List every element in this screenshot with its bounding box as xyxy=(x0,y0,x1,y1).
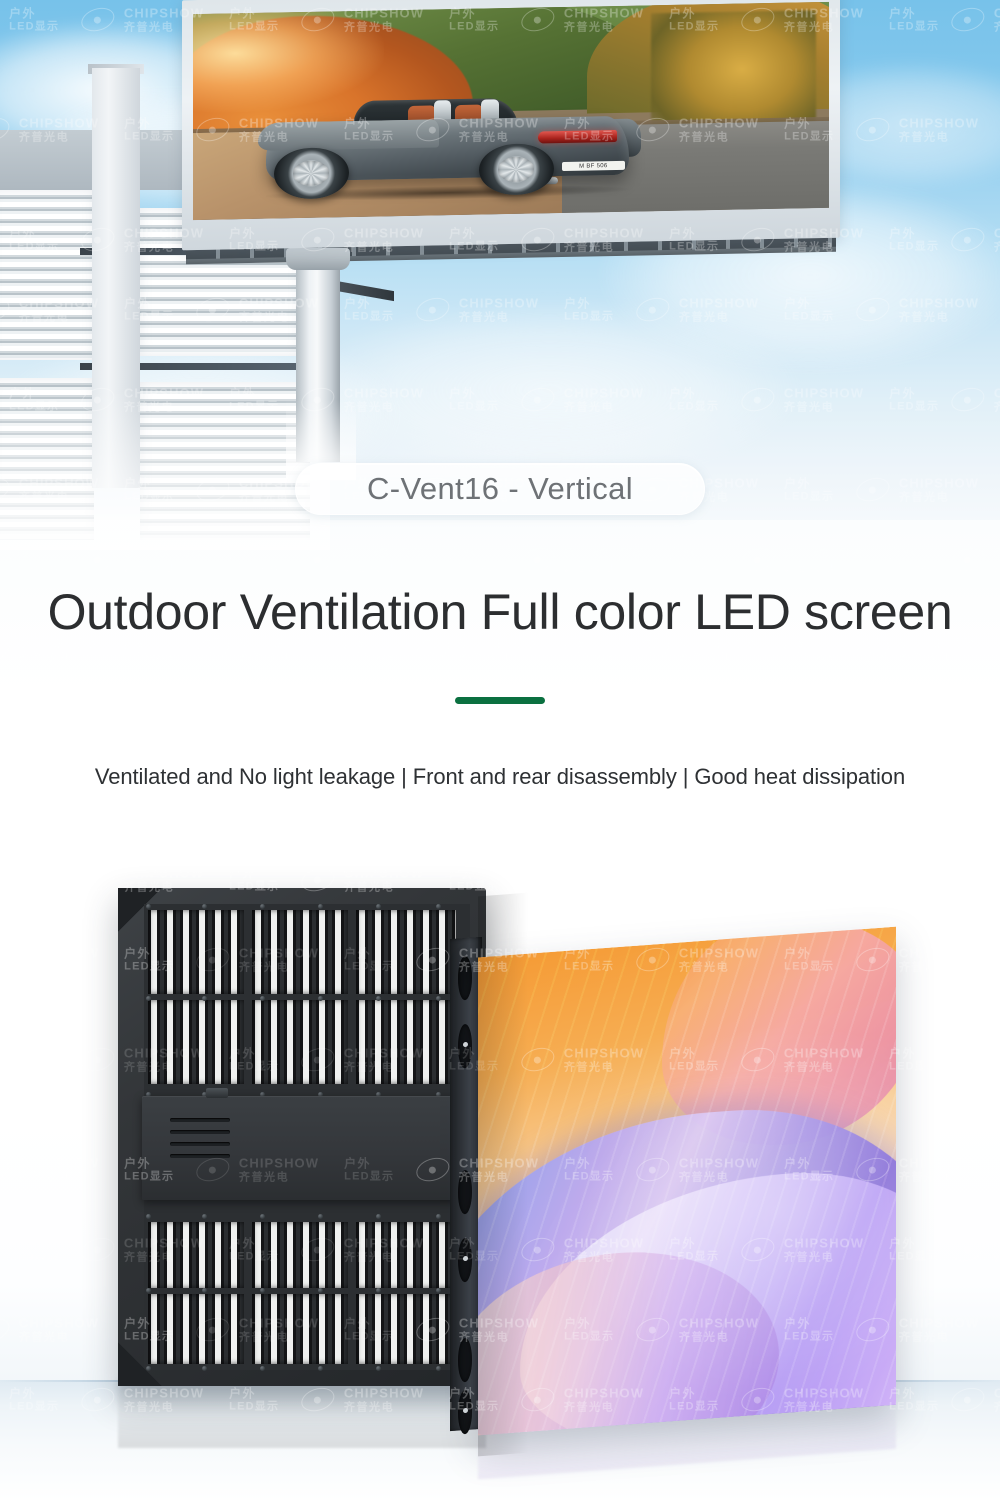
cabinet-screw xyxy=(318,1366,323,1371)
building-louver-panel xyxy=(0,190,94,360)
cabinet-screw xyxy=(376,1366,381,1371)
cabinet-screw xyxy=(202,1288,207,1293)
building-fade-mask xyxy=(0,390,330,550)
cabinet-screw xyxy=(318,1288,323,1293)
power-box-vent-slot xyxy=(170,1142,230,1146)
billboard-screen: M BF 506 xyxy=(193,2,829,220)
cabinet-side-cutout xyxy=(458,956,472,1001)
cabinet-screw xyxy=(376,1214,381,1219)
cabinet-handle xyxy=(206,1088,228,1098)
car-taillight xyxy=(538,130,617,143)
cabinet-side-cutout xyxy=(458,1170,472,1215)
power-box-vent-slot xyxy=(170,1130,230,1134)
artwork-gloss xyxy=(478,927,896,1436)
model-badge[interactable]: C-Vent16 - Vertical xyxy=(295,463,705,515)
title-divider xyxy=(455,697,545,704)
page-title: Outdoor Ventilation Full color LED scree… xyxy=(0,583,1000,641)
cabinet-screw xyxy=(202,1214,207,1219)
ventilation-louver-block xyxy=(148,1222,244,1288)
car-hood xyxy=(258,120,439,152)
car-license-plate: M BF 506 xyxy=(562,161,625,171)
power-box-vent-slot xyxy=(170,1118,230,1122)
led-cabinet-front xyxy=(478,927,896,1436)
cabinet-screw xyxy=(436,1366,441,1371)
ventilation-louver-block xyxy=(252,1222,348,1288)
car-wheel-hub xyxy=(498,157,534,182)
cabinet-screw xyxy=(436,904,441,909)
billboard-pole-collar xyxy=(286,248,350,270)
cabinet-screw xyxy=(146,1214,151,1219)
power-control-box xyxy=(142,1096,472,1200)
cabinet-screw xyxy=(376,996,381,1001)
cabinet-screw xyxy=(376,904,381,909)
cabinet-screw xyxy=(146,1288,151,1293)
cabinet-screw xyxy=(146,996,151,1001)
cabinet-screw xyxy=(146,1366,151,1371)
cabinet-screw xyxy=(202,1366,207,1371)
ventilation-louver-block xyxy=(356,1000,456,1084)
billboard: M BF 506 xyxy=(182,0,840,244)
cabinet-screw xyxy=(260,1214,265,1219)
billboard-artwork: M BF 506 xyxy=(193,2,829,220)
model-badge-label: C-Vent16 - Vertical xyxy=(367,471,633,507)
car-bmw-z4: M BF 506 xyxy=(250,67,644,202)
led-cabinet-rear xyxy=(118,888,486,1386)
ventilation-louver-block xyxy=(252,910,348,994)
cabinet-screw xyxy=(260,904,265,909)
cabinet-screw xyxy=(202,996,207,1001)
cabinet-screw xyxy=(260,996,265,1001)
ventilation-louver-block xyxy=(356,1222,456,1288)
ventilation-louver-block xyxy=(148,910,244,994)
ventilation-louver-block xyxy=(356,1294,456,1364)
cabinet-screw xyxy=(436,1288,441,1293)
cabinet-screw xyxy=(318,904,323,909)
ventilation-louver-block xyxy=(148,1294,244,1364)
cabinet-side-cutout xyxy=(458,1338,472,1383)
cabinet-screw xyxy=(260,1288,265,1293)
power-box-vent-slot xyxy=(170,1154,230,1158)
cabinet-screw xyxy=(260,1366,265,1371)
ventilation-louver-block xyxy=(252,1000,348,1084)
ventilation-louver-block xyxy=(148,1000,244,1084)
cabinet-screw xyxy=(318,996,323,1001)
cabinet-screw xyxy=(436,1214,441,1219)
product-photo xyxy=(110,880,900,1440)
cabinet-screw xyxy=(376,1288,381,1293)
cabinet-screw xyxy=(436,996,441,1001)
led-display-artwork xyxy=(478,927,896,1436)
cabinet-screw xyxy=(318,1214,323,1219)
ventilation-louver-block xyxy=(356,910,456,994)
feature-tagline: Ventilated and No light leakage | Front … xyxy=(0,764,1000,790)
cabinet-screw xyxy=(146,904,151,909)
product-banner-page: M BF 506 C-Vent16 - Vertical Outdoor Ven… xyxy=(0,0,1000,1500)
car-wheel-hub xyxy=(293,161,329,186)
cabinet-screw xyxy=(202,904,207,909)
ventilation-louver-block xyxy=(252,1294,348,1364)
